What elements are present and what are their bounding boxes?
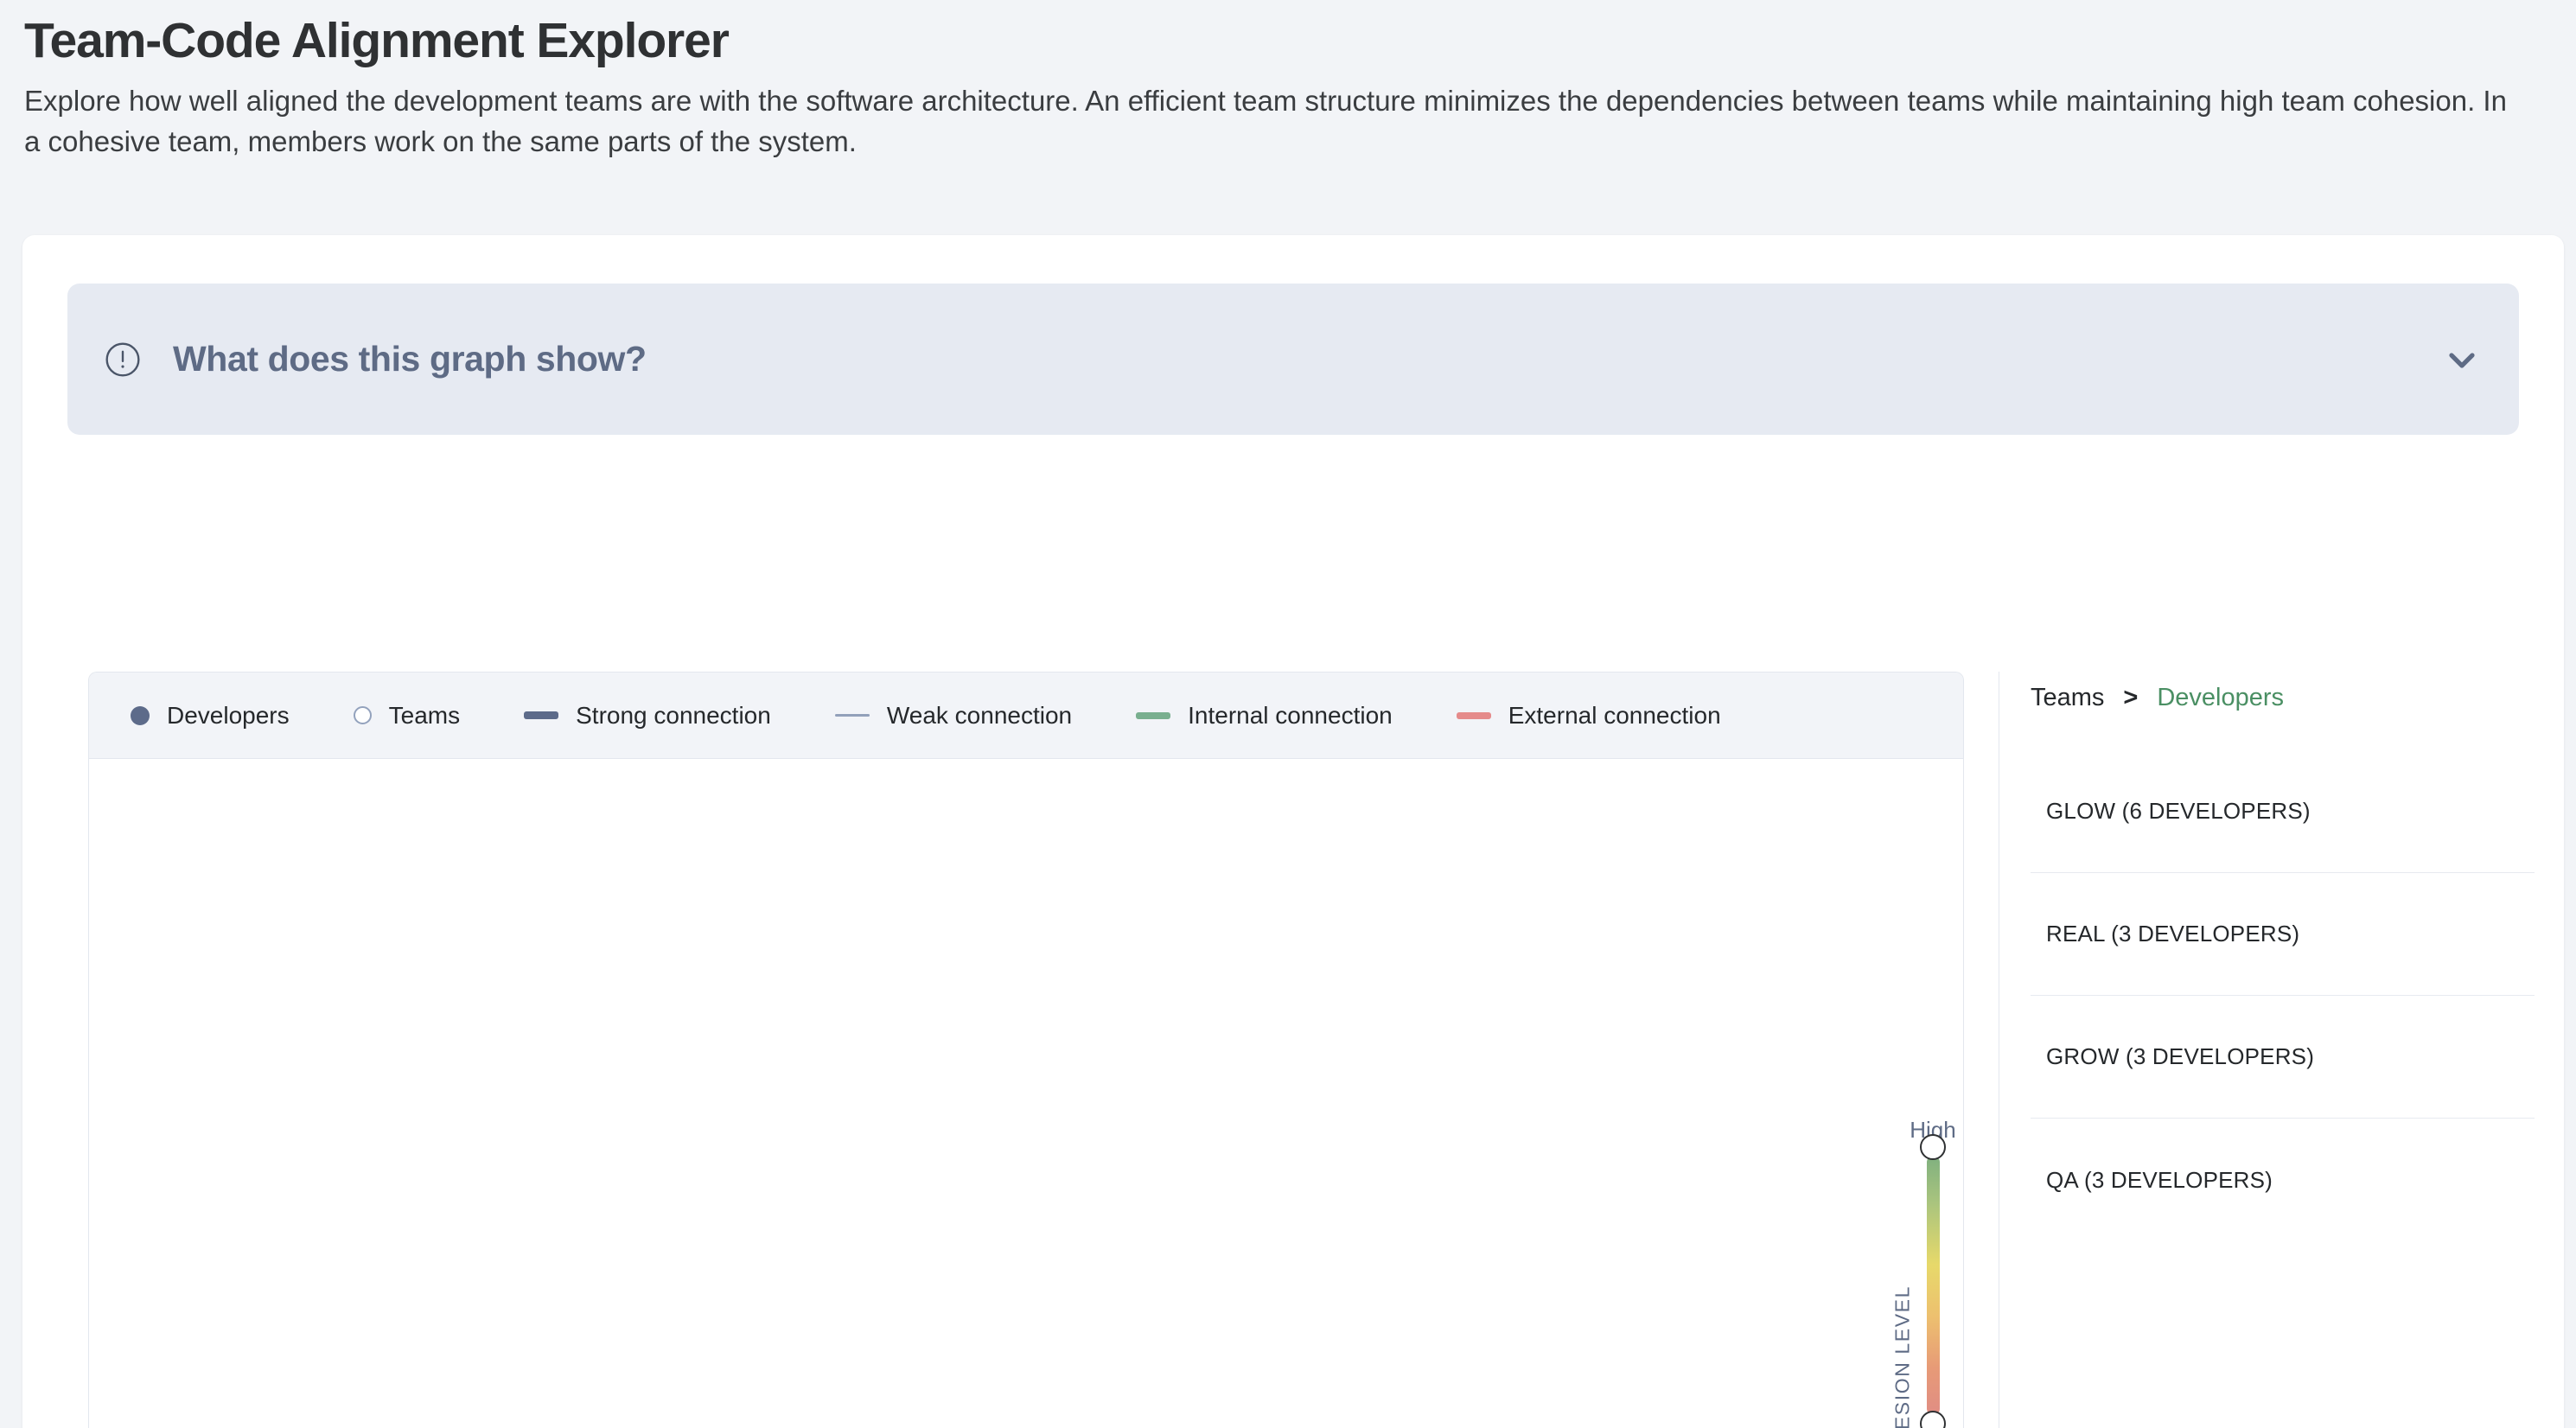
team-list-item[interactable]: GLOW (6 DEVELOPERS) [2031, 750, 2535, 873]
legend-label: Internal connection [1188, 702, 1393, 730]
info-banner[interactable]: What does this graph show? [67, 284, 2519, 435]
page-description: Explore how well aligned the development… [24, 81, 2522, 163]
page-title: Team-Code Alignment Explorer [24, 12, 2552, 70]
info-banner-title: What does this graph show? [173, 339, 647, 379]
team-list-item[interactable]: QA (3 DEVELOPERS) [2031, 1119, 2535, 1241]
team-list-item[interactable]: GROW (3 DEVELOPERS) [2031, 996, 2535, 1119]
chevron-down-icon[interactable] [2441, 339, 2483, 380]
exclamation-circle-icon [104, 341, 142, 379]
cohesion-handle-low[interactable] [1920, 1411, 1946, 1428]
cohesion-axis-label: COHESION LEVEL [1891, 1285, 1914, 1428]
explorer-card: What does this graph show? Developers Te… [22, 235, 2564, 1428]
internal-line-icon [1136, 712, 1170, 719]
legend-label: Developers [167, 702, 290, 730]
graph-panel: Developers Teams Strong connection Weak … [88, 672, 1964, 1428]
graph-legend: Developers Teams Strong connection Weak … [89, 673, 1963, 759]
external-line-icon [1457, 712, 1491, 719]
teams-dot-icon [354, 706, 372, 724]
legend-item-developers: Developers [131, 702, 290, 730]
team-name-label: GLOW (6 DEVELOPERS) [2046, 798, 2311, 825]
legend-label: External connection [1508, 702, 1721, 730]
cohesion-scale: High COHESION LEVEL Low [1881, 1117, 1985, 1428]
breadcrumb: Teams > Developers [2031, 672, 2535, 712]
legend-label: Weak connection [887, 702, 1072, 730]
developers-dot-icon [131, 706, 150, 725]
breadcrumb-separator-icon: > [2123, 684, 2138, 712]
legend-item-external-connection: External connection [1457, 702, 1721, 730]
team-name-label: QA (3 DEVELOPERS) [2046, 1167, 2273, 1194]
legend-label: Strong connection [576, 702, 771, 730]
page-root: Team-Code Alignment Explorer Explore how… [0, 0, 2576, 1428]
legend-label: Teams [389, 702, 460, 730]
cohesion-handle-high[interactable] [1920, 1134, 1946, 1160]
legend-item-internal-connection: Internal connection [1136, 702, 1393, 730]
legend-item-strong-connection: Strong connection [524, 702, 771, 730]
legend-item-teams: Teams [354, 702, 460, 730]
team-list: GLOW (6 DEVELOPERS)REAL (3 DEVELOPERS)GR… [2031, 750, 2535, 1241]
team-name-label: GROW (3 DEVELOPERS) [2046, 1043, 2314, 1070]
teams-sidebar: Teams > Developers GLOW (6 DEVELOPERS)RE… [1999, 672, 2535, 1428]
breadcrumb-developers[interactable]: Developers [2157, 684, 2284, 712]
weak-line-icon [835, 714, 870, 717]
legend-item-weak-connection: Weak connection [835, 702, 1072, 730]
page-header: Team-Code Alignment Explorer Explore how… [0, 0, 2576, 163]
team-name-label: REAL (3 DEVELOPERS) [2046, 921, 2299, 947]
strong-line-icon [524, 711, 558, 719]
cohesion-bar-wrap: COHESION LEVEL [1927, 1147, 1940, 1424]
breadcrumb-teams[interactable]: Teams [2031, 684, 2104, 712]
team-list-item[interactable]: REAL (3 DEVELOPERS) [2031, 873, 2535, 996]
network-graph-canvas[interactable]: NSMMeCTKNRLSMJMDKEAJLSSJFEMAT [89, 759, 1963, 1428]
cohesion-gradient-bar [1927, 1156, 1940, 1415]
